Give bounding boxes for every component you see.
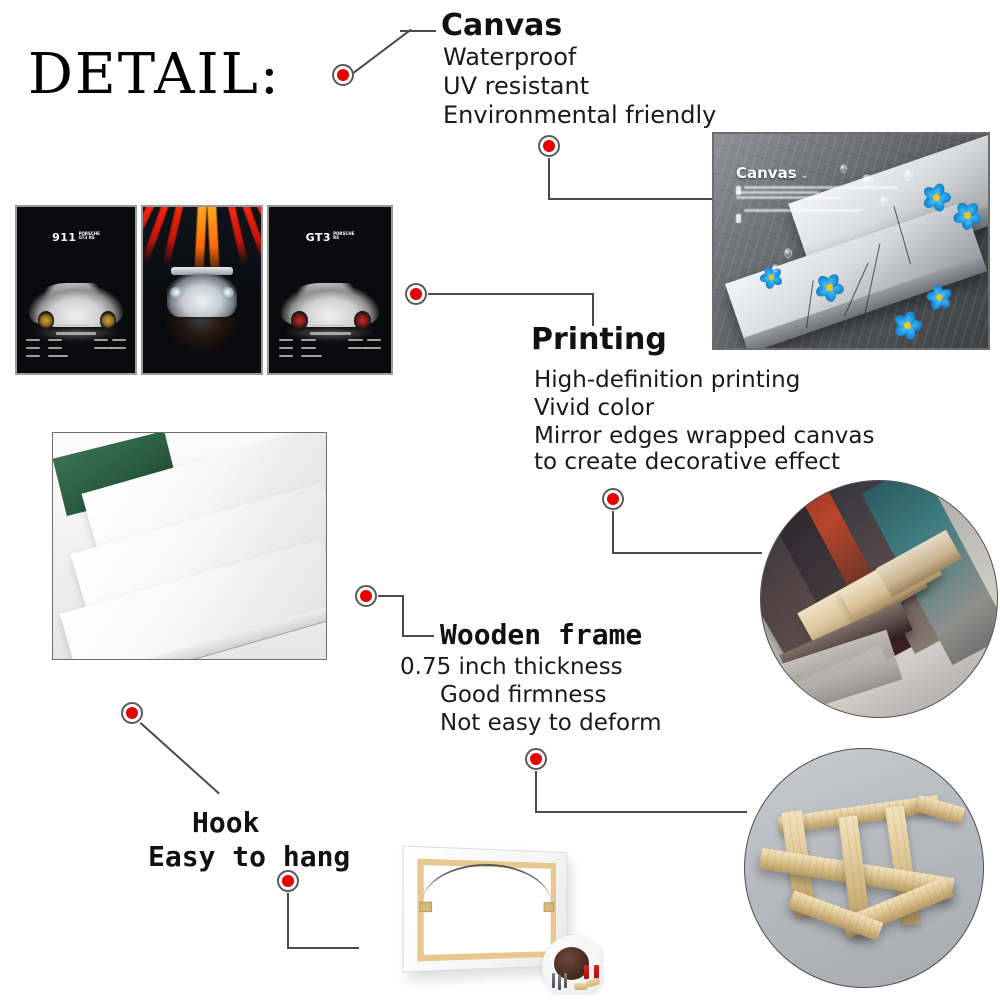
wire-anchor	[420, 902, 433, 912]
flower-icon	[924, 284, 955, 311]
marker-hook-dot[interactable]	[121, 702, 143, 724]
canvas-stack-photo	[52, 432, 327, 660]
canvas-heading: Canvas	[441, 8, 562, 43]
droplet	[784, 248, 792, 258]
connector-wood-vertical	[402, 595, 404, 637]
printing-line-3: Mirror edges wrapped canvas	[534, 423, 875, 449]
infographic-canvas: DETAIL: Canvas Waterproof UV resistant E…	[0, 0, 1000, 1000]
droplet	[772, 264, 779, 272]
hook-line-1: Easy to hang	[148, 840, 350, 873]
screw	[552, 973, 555, 988]
car-silhouette	[281, 283, 379, 326]
chevron-down-icon: ⌄	[801, 171, 809, 181]
wooden-frame-line-1: 0.75 inch thickness	[400, 654, 623, 680]
red-hook-pin	[584, 965, 589, 979]
caption-line	[744, 186, 898, 189]
flower-icon	[890, 310, 924, 340]
caption-line	[744, 209, 862, 212]
car-silhouette	[29, 283, 123, 326]
flower-icon	[950, 200, 984, 230]
poster-panel-center	[141, 205, 263, 375]
poster-title-right: GT3PORSCHERS	[269, 231, 391, 244]
printing-line-2: Vivid color	[534, 395, 654, 421]
hook-heading: Hook	[192, 806, 259, 839]
poster-model: 911	[52, 231, 76, 244]
caption-line	[736, 196, 842, 199]
poster-spec-block	[26, 325, 125, 358]
flower-icon	[812, 272, 846, 302]
screw	[558, 975, 561, 990]
connector-canvas-horizontal	[400, 30, 436, 32]
canvas-photo-label: Canvas⌄	[736, 164, 808, 182]
car-poster-triptych: 911PORSCHEGT3 RS	[15, 205, 393, 375]
stretcher-bar	[915, 795, 965, 824]
connector-mirror-horizontal	[612, 552, 762, 554]
connector-woodcircle-vertical	[535, 771, 537, 813]
hardware-inset-circle	[542, 935, 604, 995]
wooden-frame-line-2: Good firmness	[440, 682, 607, 708]
screw	[564, 973, 567, 988]
headlight	[221, 287, 234, 299]
canvas-line-2: UV resistant	[443, 72, 589, 100]
marker-wood-circle-dot[interactable]	[525, 748, 547, 770]
droplet	[840, 164, 847, 173]
printing-heading: Printing	[531, 322, 667, 357]
marker-canvas-photo-dot[interactable]	[538, 135, 560, 157]
page-title: DETAIL:	[28, 42, 281, 107]
poster-model: GT3	[306, 231, 332, 244]
mirror-edge-circle-photo	[760, 480, 998, 718]
hanging-hardware-photo	[382, 835, 604, 995]
canvas-line-1: Waterproof	[443, 43, 576, 71]
connector-printing-horizontal	[428, 293, 594, 295]
connector-canvas-diagonal	[353, 29, 412, 74]
connector-mirror-vertical	[612, 511, 614, 554]
poster-panel-right: GT3PORSCHERS	[267, 205, 393, 375]
printing-line-1: High-definition printing	[534, 367, 800, 393]
wooden-frame-heading: Wooden frame	[440, 618, 642, 651]
wire-anchor	[544, 903, 555, 913]
poster-panel-left: 911PORSCHEGT3 RS	[15, 205, 137, 375]
caption-dropcap	[736, 214, 741, 223]
canvas-photo-caption-block	[736, 186, 896, 214]
connector-hook-diagonal	[140, 722, 220, 794]
connector-wood-horizontal-1	[378, 595, 404, 597]
marker-hanging-dot[interactable]	[277, 870, 299, 892]
connector-wood-horizontal-2	[402, 635, 434, 637]
connector-hanging-vertical	[287, 893, 289, 949]
poster-submodel: PORSCHERS	[333, 232, 354, 240]
printing-line-4: to create decorative effect	[534, 449, 840, 475]
marker-printing-dot[interactable]	[405, 283, 427, 305]
marker-mirror-dot[interactable]	[602, 488, 624, 510]
wooden-frame-line-3: Not easy to deform	[440, 710, 662, 736]
marker-wooden-frame-dot[interactable]	[355, 585, 377, 607]
floor-reflection	[164, 317, 240, 360]
canvas-photo-label-text: Canvas	[736, 164, 797, 182]
flower-icon	[757, 265, 784, 289]
connector-canvasphoto-horizontal	[548, 198, 712, 200]
droplet	[904, 170, 913, 181]
canvas-print-photo: Canvas⌄	[712, 132, 990, 350]
connector-hanging-horizontal	[287, 947, 359, 949]
connector-canvasphoto-vertical	[548, 158, 550, 200]
marker-canvas-dot[interactable]	[332, 64, 354, 86]
poster-submodel: PORSCHEGT3 RS	[79, 232, 100, 240]
caption-line	[736, 191, 819, 194]
wooden-frame-circle-photo	[744, 748, 984, 988]
flower-icon	[919, 182, 953, 212]
poster-title-left: 911PORSCHEGT3 RS	[17, 231, 135, 244]
poster-spec-block	[279, 325, 382, 358]
connector-woodcircle-horizontal	[535, 811, 747, 813]
canvas-back-frame	[403, 846, 568, 974]
canvas-line-3: Environmental friendly	[443, 101, 716, 129]
